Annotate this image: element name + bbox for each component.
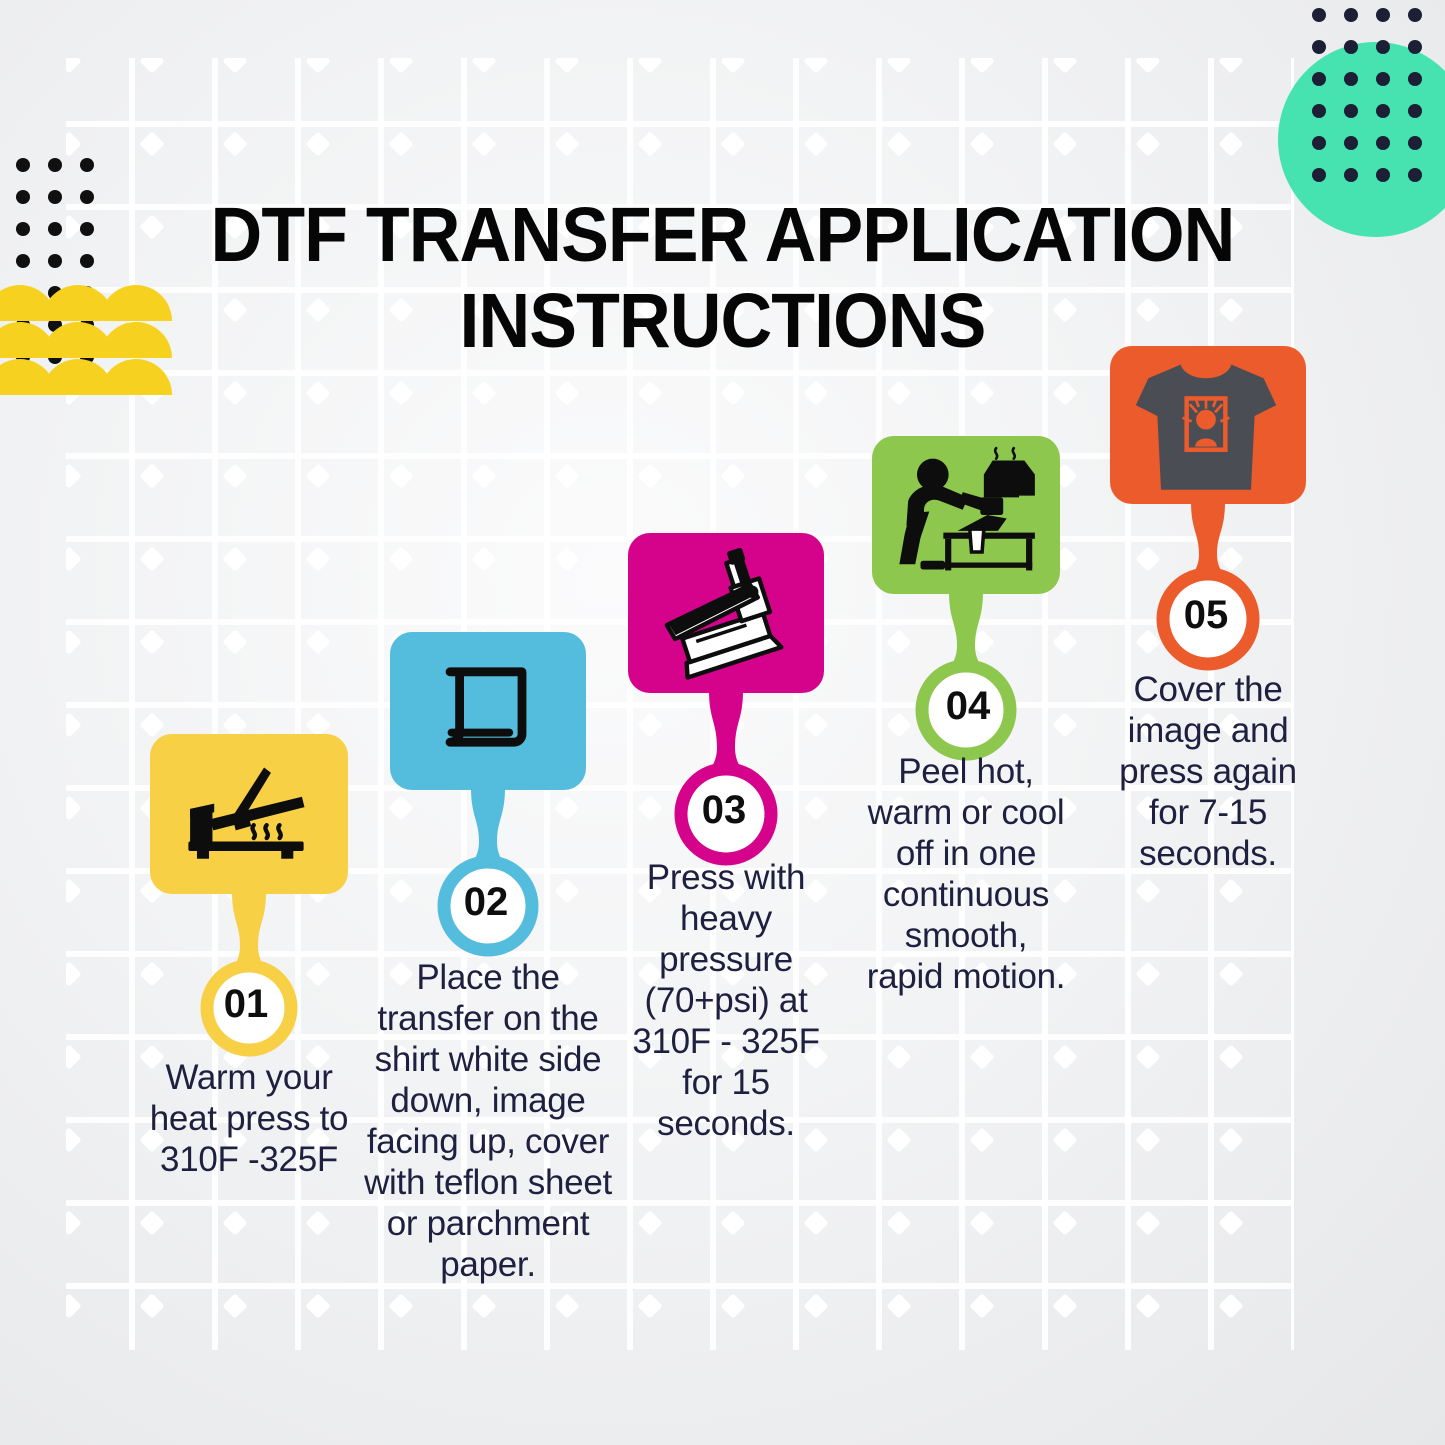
grid-node (305, 463, 330, 488)
decor-dot (1376, 168, 1390, 182)
grid-node (139, 629, 164, 654)
step-icon-card (1110, 346, 1306, 504)
decor-dot (16, 190, 30, 204)
grid-node (139, 1210, 164, 1235)
grid-node (969, 1293, 994, 1318)
grid-node (222, 1210, 247, 1235)
grid-node (720, 380, 745, 405)
grid-node (66, 1127, 82, 1152)
grid-node (969, 380, 994, 405)
step-number-label: 01 (130, 982, 362, 1027)
decor-dot (1408, 40, 1422, 54)
decor-dot (1344, 168, 1358, 182)
grid-node (1218, 878, 1243, 903)
grid-node (471, 380, 496, 405)
grid-node (66, 546, 82, 571)
grid-node (471, 463, 496, 488)
grid-node (1052, 1127, 1077, 1152)
grid-node (222, 1293, 247, 1318)
grid-node (1135, 961, 1160, 986)
grid-node (803, 463, 828, 488)
step-number-label: 05 (1090, 593, 1322, 638)
decor-dot (1376, 136, 1390, 150)
grid-node (139, 131, 164, 156)
step-number-label: 04 (852, 684, 1084, 729)
grid-node (471, 1293, 496, 1318)
grid-node (222, 131, 247, 156)
grid-node (66, 1293, 82, 1318)
grid-node (803, 1210, 828, 1235)
grid-node (1218, 1127, 1243, 1152)
grid-node (1218, 131, 1243, 156)
decor-dot (16, 254, 30, 268)
grid-node (305, 546, 330, 571)
decor-dot (48, 158, 62, 172)
decor-dot (16, 222, 30, 236)
grid-node (139, 58, 164, 74)
grid-node (222, 380, 247, 405)
grid-node (720, 463, 745, 488)
grid-node (803, 131, 828, 156)
grid-node (66, 463, 82, 488)
step-description-03: Press with heavy pressure (70+psi) at 31… (617, 858, 835, 1145)
grid-node (886, 1210, 911, 1235)
grid-node (1135, 131, 1160, 156)
decor-dot (1344, 136, 1358, 150)
grid-node (305, 58, 330, 74)
decor-dot (1312, 72, 1326, 86)
grid-node (886, 1127, 911, 1152)
grid-node (388, 131, 413, 156)
grid-node (66, 131, 82, 156)
grid-node (1052, 1293, 1077, 1318)
decor-dot (1376, 104, 1390, 118)
grid-node (969, 131, 994, 156)
decor-dot (1376, 40, 1390, 54)
grid-node (388, 1293, 413, 1318)
decor-dot (1408, 168, 1422, 182)
infographic-canvas: DTF TRANSFER APPLICATION INSTRUCTIONS (0, 0, 1445, 1445)
grid-node (637, 1293, 662, 1318)
grid-node (637, 131, 662, 156)
grid-node (720, 1210, 745, 1235)
decor-dot (1312, 8, 1326, 22)
grid-node (305, 380, 330, 405)
step-description-02: Place the transfer on the shirt white si… (364, 958, 612, 1286)
decor-dot (1376, 8, 1390, 22)
grid-node (554, 546, 579, 571)
grid-node (388, 58, 413, 74)
grid-node (66, 712, 82, 737)
grid-node (1135, 58, 1160, 74)
grid-node (886, 58, 911, 74)
step-number-label: 03 (608, 788, 840, 833)
decor-dot (1312, 168, 1326, 182)
grid-node (803, 1293, 828, 1318)
grid-node (886, 131, 911, 156)
grid-node (969, 58, 994, 74)
grid-node (222, 629, 247, 654)
decor-dot (1408, 136, 1422, 150)
grid-node (886, 380, 911, 405)
decor-dot (1312, 40, 1326, 54)
grid-node (1052, 380, 1077, 405)
grid-node (637, 58, 662, 74)
step-icon-card (150, 734, 348, 894)
grid-node (886, 1293, 911, 1318)
decor-dot (1312, 136, 1326, 150)
grid-node (305, 629, 330, 654)
grid-node (388, 380, 413, 405)
grid-node (471, 131, 496, 156)
grid-node (388, 463, 413, 488)
grid-node (1052, 58, 1077, 74)
decor-dot (1344, 40, 1358, 54)
decor-dot (1376, 72, 1390, 86)
grid-node (1135, 1127, 1160, 1152)
grid-node (1052, 1044, 1077, 1069)
step-number-label: 02 (370, 880, 602, 925)
grid-node (886, 1044, 911, 1069)
grid-node (720, 58, 745, 74)
grid-node (969, 1127, 994, 1152)
grid-node (66, 58, 82, 74)
decor-arch (100, 359, 172, 395)
grid-node (66, 1044, 82, 1069)
grid-node (803, 58, 828, 74)
step-description-04: Peel hot, warm or cool off in one contin… (866, 752, 1066, 998)
decor-dot (1312, 104, 1326, 118)
grid-node (305, 1210, 330, 1235)
decor-dot (1408, 104, 1422, 118)
grid-node (637, 1210, 662, 1235)
grid-node (222, 58, 247, 74)
grid-node (1052, 131, 1077, 156)
dot-grid-top-right (1312, 8, 1437, 178)
decor-dot (1344, 104, 1358, 118)
decor-dot (1408, 8, 1422, 22)
grid-node (66, 795, 82, 820)
step-description-01: Warm your heat press to 310F -325F (133, 1058, 365, 1181)
step-icon-card (390, 632, 586, 790)
grid-node (139, 546, 164, 571)
grid-node (305, 131, 330, 156)
grid-node (1218, 1210, 1243, 1235)
grid-node (1135, 1210, 1160, 1235)
decor-dot (1344, 72, 1358, 86)
grid-node (720, 131, 745, 156)
grid-node (554, 131, 579, 156)
grid-node (554, 380, 579, 405)
decor-dot (1408, 72, 1422, 86)
grid-node (66, 961, 82, 986)
grid-node (388, 546, 413, 571)
grid-node (471, 58, 496, 74)
grid-node (66, 878, 82, 903)
step-description-05: Cover the image and press again for 7-15… (1108, 670, 1308, 875)
title-line-1: DTF TRANSFER APPLICATION (211, 192, 1235, 278)
grid-node (66, 1210, 82, 1235)
grid-node (471, 546, 496, 571)
decor-dot (16, 158, 30, 172)
grid-node (803, 380, 828, 405)
step-icon-card (872, 436, 1060, 594)
grid-node (139, 463, 164, 488)
decor-dot (1344, 8, 1358, 22)
grid-node (1218, 1044, 1243, 1069)
grid-node (637, 463, 662, 488)
page-title: DTF TRANSFER APPLICATION INSTRUCTIONS (51, 192, 1395, 364)
grid-node (1218, 1293, 1243, 1318)
grid-node (66, 629, 82, 654)
grid-node (554, 463, 579, 488)
grid-node (1135, 878, 1160, 903)
grid-node (1218, 58, 1243, 74)
grid-node (1052, 1210, 1077, 1235)
grid-node (637, 380, 662, 405)
grid-node (1135, 1044, 1160, 1069)
grid-node (554, 58, 579, 74)
grid-node (222, 463, 247, 488)
grid-node (554, 1293, 579, 1318)
grid-node (720, 1293, 745, 1318)
grid-node (969, 1210, 994, 1235)
grid-node (1218, 961, 1243, 986)
grid-node (305, 1293, 330, 1318)
grid-node (1135, 1293, 1160, 1318)
grid-node (222, 546, 247, 571)
grid-node (969, 1044, 994, 1069)
step-icon-card (628, 533, 824, 693)
grid-node (139, 1293, 164, 1318)
decor-dot (80, 158, 94, 172)
